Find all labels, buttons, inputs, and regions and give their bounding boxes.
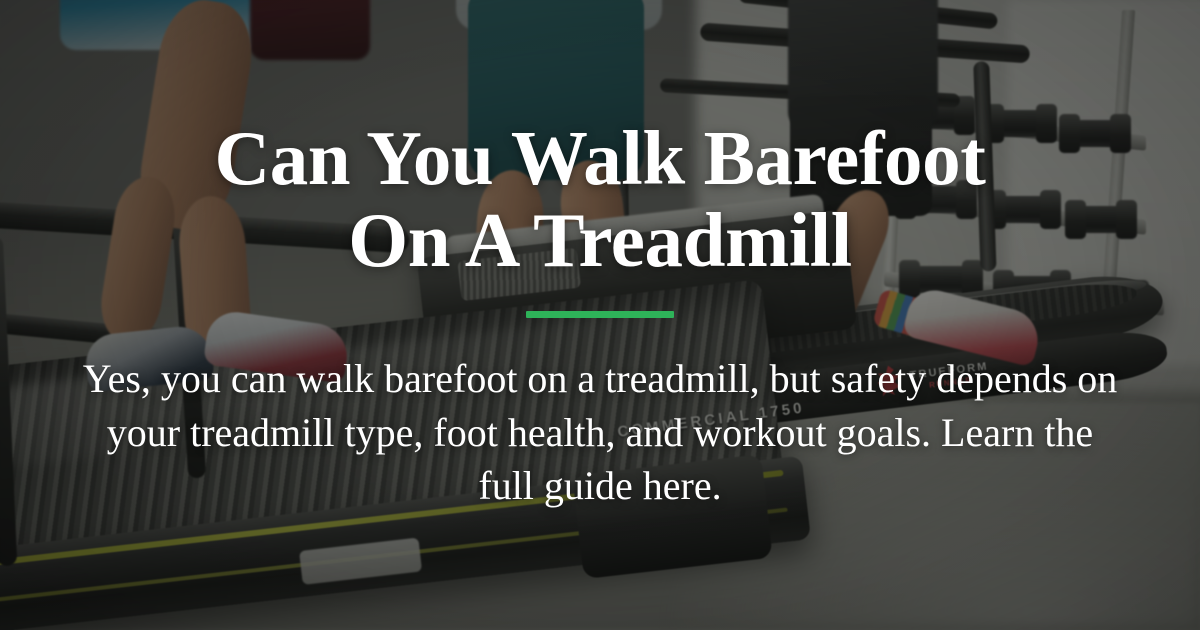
hero-content: Can You Walk BarefootOn A Treadmill Yes,… bbox=[0, 0, 1200, 630]
hero-banner: TRUEFORM RUNNER bbox=[0, 0, 1200, 630]
page-title: Can You Walk BarefootOn A Treadmill bbox=[215, 118, 986, 281]
page-subtitle: Yes, you can walk barefoot on a treadmil… bbox=[78, 352, 1123, 512]
green-accent-rule bbox=[526, 311, 674, 318]
